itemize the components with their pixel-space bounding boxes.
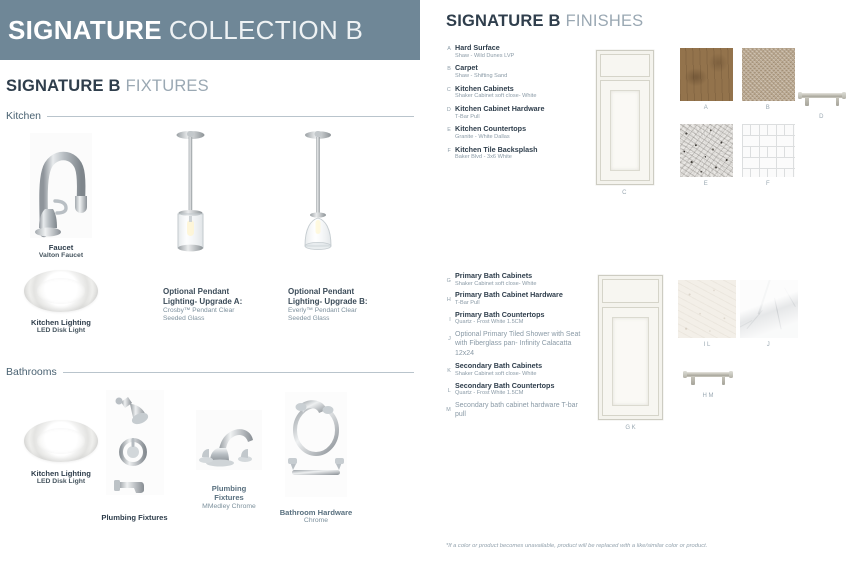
finish-text: Primary Bath Cabinet Hardware T-Bar Pull xyxy=(455,291,584,306)
swatch-letter-f: F xyxy=(742,181,795,187)
finish-text: Secondary Bath Countertops Quartz - Fros… xyxy=(455,382,584,397)
finish-item: C Kitchen Cabinets Shaker Cabinet soft c… xyxy=(444,85,584,100)
fixture-bath-disk-light: Kitchen Lighting LED Disk Light xyxy=(24,420,98,487)
finish-text: Secondary Bath Cabinets Shaker Cabinet s… xyxy=(455,362,584,377)
caption-name: Faucet xyxy=(30,243,92,252)
pendant-cylinder-icon xyxy=(163,128,218,273)
swatch-letter-gk: G K xyxy=(598,425,663,431)
finish-key: G xyxy=(444,272,455,284)
finish-key: L xyxy=(444,382,455,394)
swatch-kitchen-hardware: D xyxy=(798,86,846,108)
swatch-letter-c: C xyxy=(596,190,654,196)
group-header-bathrooms: Bathrooms xyxy=(6,366,414,378)
finishes-title-bold: SIGNATURE B xyxy=(446,12,561,31)
calacatta-marble-swatch xyxy=(740,280,798,338)
marble-vein xyxy=(758,280,772,315)
disk-light-icon xyxy=(24,420,98,462)
granite-swatch xyxy=(680,124,733,177)
finish-text: Hard Surface Shaw - Wild Dunes LVP xyxy=(455,44,584,59)
lav-faucet-svg xyxy=(196,410,262,470)
swatch-letter-a: A xyxy=(680,105,733,111)
finish-sub: Quartz - Frost White 1.5CM xyxy=(455,390,584,397)
bathroom-hardware-caption: Bathroom Hardware Chrome xyxy=(273,508,359,526)
finish-key: J xyxy=(444,330,455,342)
fixture-pendant-upgrade-b: Optional Pendant Lighting- Upgrade B: Ev… xyxy=(288,128,373,323)
page-header-band: SIGNATURE COLLECTION B xyxy=(0,0,420,60)
shower-trim-caption: Plumbing Fixtures xyxy=(82,513,187,522)
pull-post-left xyxy=(805,97,809,106)
group-rule xyxy=(47,116,414,117)
lav-faucet-caption: Plumbing Fixtures MMedley Chrome xyxy=(196,484,262,511)
marble-vein xyxy=(774,298,782,330)
finish-item: M Secondary bath cabinet hardware T-bar … xyxy=(444,401,584,420)
fixture-kitchen-faucet: Faucet Valton Faucet xyxy=(30,133,92,261)
finish-name: Secondary bath cabinet hardware T-bar pu… xyxy=(455,401,584,420)
marble-vein xyxy=(747,310,763,329)
cabinet-panel-inner xyxy=(610,90,640,171)
finish-sub: Shaker Cabinet soft close- White xyxy=(455,281,584,288)
finish-text: Kitchen Cabinets Shaker Cabinet soft clo… xyxy=(455,85,584,100)
caption-name: Kitchen Lighting xyxy=(24,318,98,327)
finish-sub: T-Bar Pull xyxy=(455,114,584,121)
finish-name: Hard Surface xyxy=(455,44,584,53)
finish-item: K Secondary Bath Cabinets Shaker Cabinet… xyxy=(444,362,584,377)
pull-post-right xyxy=(722,376,726,385)
finish-key: I xyxy=(444,311,455,323)
finish-key: F xyxy=(444,146,455,154)
swatch-tile-backsplash: F xyxy=(742,124,795,177)
finish-sub: Quartz - Frost White 1.5CM xyxy=(455,319,584,326)
finish-text: Primary Bath Cabinets Shaker Cabinet sof… xyxy=(455,272,584,287)
finish-key: E xyxy=(444,125,455,133)
finish-text: Kitchen Cabinet Hardware T-Bar Pull xyxy=(455,105,584,120)
caption-name: Optional Pendant Lighting- Upgrade A: xyxy=(163,287,248,307)
kitchen-faucet-icon xyxy=(30,133,92,238)
swatch-granite-countertop: E xyxy=(680,124,733,177)
towel-ring-icon xyxy=(285,392,347,497)
finish-item: J Optional Primary Tiled Shower with Sea… xyxy=(444,330,584,358)
lav-faucet-icon xyxy=(196,410,262,470)
finish-name: Kitchen Countertops xyxy=(455,125,584,134)
finish-item: L Secondary Bath Countertops Quartz - Fr… xyxy=(444,382,584,397)
cabinet-drawer xyxy=(602,279,659,303)
pendant-b-caption: Optional Pendant Lighting- Upgrade B: Ev… xyxy=(288,287,373,323)
fixtures-section-title: SIGNATURE B FIXTURES xyxy=(6,77,209,96)
finishes-title-light: FINISHES xyxy=(566,12,644,31)
finish-sub: Shaker Cabinet soft close- White xyxy=(455,371,584,378)
finish-sub: Baker Blvd - 3x6 White xyxy=(455,154,584,161)
finish-item: F Kitchen Tile Backsplash Baker Blvd - 3… xyxy=(444,146,584,161)
swatch-letter-b: B xyxy=(742,105,795,111)
caption-detail: MMedley Chrome xyxy=(196,503,262,511)
finish-text: Primary Bath Countertops Quartz - Frost … xyxy=(455,311,584,326)
cabinet-panel xyxy=(600,80,650,181)
caption-name: Bathroom Hardware xyxy=(273,508,359,517)
finish-key: M xyxy=(444,401,455,413)
kitchen-faucet-svg xyxy=(30,133,92,238)
wood-lvp-swatch xyxy=(680,48,733,101)
finish-sub: Granite - White Dallas xyxy=(455,134,584,141)
finish-item: I Primary Bath Countertops Quartz - Fros… xyxy=(444,311,584,326)
header-title-light: COLLECTION B xyxy=(169,15,363,46)
pendant-schoolhouse-icon xyxy=(288,128,348,273)
fixture-kitchen-disk-light: Kitchen Lighting LED Disk Light xyxy=(24,270,98,336)
finish-name: Primary Bath Countertops xyxy=(455,311,584,320)
finishes-section-title: SIGNATURE B FINISHES xyxy=(446,12,643,31)
collection-board-page: SIGNATURE COLLECTION B SIGNATURE B FIXTU… xyxy=(0,0,853,569)
finish-name: Secondary Bath Countertops xyxy=(455,382,584,391)
swatch-bath-cabinet: G K xyxy=(598,275,663,420)
group-header-kitchen: Kitchen xyxy=(6,110,414,122)
finish-text: Kitchen Tile Backsplash Baker Blvd - 3x6… xyxy=(455,146,584,161)
group-label-kitchen: Kitchen xyxy=(6,110,47,122)
marble-vein xyxy=(740,320,752,329)
finish-item: B Carpet Shaw - Shifting Sand xyxy=(444,64,584,79)
finish-text: Secondary bath cabinet hardware T-bar pu… xyxy=(455,401,584,420)
caption-name: Plumbing Fixtures xyxy=(196,484,262,503)
kitchen-disk-light-caption: Kitchen Lighting LED Disk Light xyxy=(24,318,98,336)
pull-cap-right xyxy=(729,371,733,378)
pull-cap-left xyxy=(683,371,687,378)
finish-sub: Shaw - Wild Dunes LVP xyxy=(455,53,584,60)
t-bar-pull-icon xyxy=(683,365,733,387)
pull-post-left xyxy=(691,376,695,385)
carpet-swatch xyxy=(742,48,795,101)
finish-sub: Shaw - Shifting Sand xyxy=(455,73,584,80)
towel-ring-svg xyxy=(285,392,347,497)
swatch-letter-d: D xyxy=(798,114,846,120)
finish-key: D xyxy=(444,105,455,113)
swatch-letter-hm: H M xyxy=(683,393,733,399)
caption-name: Kitchen Lighting xyxy=(24,469,98,478)
fixtures-title-light: FIXTURES xyxy=(126,77,209,96)
finish-name: Kitchen Tile Backsplash xyxy=(455,146,584,155)
caption-detail: LED Disk Light xyxy=(24,478,98,486)
swatch-kitchen-cabinet: C xyxy=(596,50,654,185)
finish-item: E Kitchen Countertops Granite - White Da… xyxy=(444,125,584,140)
finish-text: Carpet Shaw - Shifting Sand xyxy=(455,64,584,79)
cabinet-panel xyxy=(602,307,659,416)
finish-name: Kitchen Cabinet Hardware xyxy=(455,105,584,114)
finish-item: A Hard Surface Shaw - Wild Dunes LVP xyxy=(444,44,584,59)
finish-name: Optional Primary Tiled Shower with Seat … xyxy=(455,330,584,358)
pendant-cylinder-svg xyxy=(163,128,218,273)
finish-key: K xyxy=(444,362,455,374)
pull-post-right xyxy=(836,97,840,106)
pendant-a-caption: Optional Pendant Lighting- Upgrade A: Cr… xyxy=(163,287,248,323)
swatch-hard-surface: A xyxy=(680,48,733,101)
cabinet-panel-inner xyxy=(612,317,649,406)
shower-tub-trim-icon xyxy=(106,390,164,495)
caption-detail: LED Disk Light xyxy=(24,327,98,335)
cabinet-door-icon xyxy=(598,275,663,420)
header-title-bold: SIGNATURE xyxy=(8,15,162,46)
group-rule xyxy=(63,372,414,373)
fixture-bathroom-hardware: Bathroom Hardware Chrome xyxy=(285,392,359,526)
finish-name: Kitchen Cabinets xyxy=(455,85,584,94)
swatch-bath-hardware: H M xyxy=(683,365,733,387)
swatch-carpet: B xyxy=(742,48,795,101)
group-label-bathrooms: Bathrooms xyxy=(6,366,63,378)
swatch-letter-il: I L xyxy=(678,342,736,348)
t-bar-pull-icon xyxy=(798,86,846,108)
swatch-letter-j: J xyxy=(740,342,798,348)
finish-item: G Primary Bath Cabinets Shaker Cabinet s… xyxy=(444,272,584,287)
swatch-shower-tile: J xyxy=(740,280,798,338)
finish-sub: Shaker Cabinet soft close- White xyxy=(455,93,584,100)
finish-text: Optional Primary Tiled Shower with Seat … xyxy=(455,330,584,358)
marble-vein xyxy=(784,288,796,307)
finish-item: D Kitchen Cabinet Hardware T-Bar Pull xyxy=(444,105,584,120)
caption-detail: Chrome xyxy=(273,517,359,525)
caption-detail: Everly™ Pendant Clear Seeded Glass xyxy=(288,307,373,323)
finish-key: B xyxy=(444,64,455,72)
quartz-swatch xyxy=(678,280,736,338)
kitchen-faucet-caption: Faucet Valton Faucet xyxy=(30,243,92,261)
finish-name: Primary Bath Cabinet Hardware xyxy=(455,291,584,300)
pull-cap-right xyxy=(842,92,846,99)
fixture-plumbing-shower-trim: Plumbing Fixtures xyxy=(106,390,187,522)
caption-detail: Crosby™ Pendant Clear Seeded Glass xyxy=(163,307,248,323)
finish-text: Kitchen Countertops Granite - White Dall… xyxy=(455,125,584,140)
finish-name: Primary Bath Cabinets xyxy=(455,272,584,281)
caption-name: Optional Pendant Lighting- Upgrade B: xyxy=(288,287,373,307)
cabinet-drawer xyxy=(600,54,650,77)
finishes-list-kitchen: A Hard Surface Shaw - Wild Dunes LVP B C… xyxy=(444,44,584,166)
finish-name: Carpet xyxy=(455,64,584,73)
caption-name: Plumbing Fixtures xyxy=(82,513,187,522)
fixture-lav-faucet: Plumbing Fixtures MMedley Chrome xyxy=(196,410,262,511)
footnote-disclaimer: *If a color or product becomes unavailab… xyxy=(446,543,846,551)
fixture-pendant-upgrade-a: Optional Pendant Lighting- Upgrade A: Cr… xyxy=(163,128,248,323)
finish-item: H Primary Bath Cabinet Hardware T-Bar Pu… xyxy=(444,291,584,306)
disk-light-icon xyxy=(24,270,98,312)
subway-tile-swatch xyxy=(742,124,795,177)
shower-trim-svg xyxy=(106,390,164,495)
finish-name: Secondary Bath Cabinets xyxy=(455,362,584,371)
caption-detail: Valton Faucet xyxy=(30,252,92,260)
finish-key: H xyxy=(444,291,455,303)
finish-key: A xyxy=(444,44,455,52)
cabinet-door-icon xyxy=(596,50,654,185)
finish-key: C xyxy=(444,85,455,93)
pendant-schoolhouse-svg xyxy=(288,128,348,273)
bath-disk-light-caption: Kitchen Lighting LED Disk Light xyxy=(24,469,98,487)
fixtures-title-bold: SIGNATURE B xyxy=(6,77,121,96)
swatch-quartz-countertop: I L xyxy=(678,280,736,338)
finish-sub: T-Bar Pull xyxy=(455,300,584,307)
pull-cap-left xyxy=(798,92,802,99)
swatch-letter-e: E xyxy=(680,181,733,187)
finishes-list-bath: G Primary Bath Cabinets Shaker Cabinet s… xyxy=(444,272,584,424)
